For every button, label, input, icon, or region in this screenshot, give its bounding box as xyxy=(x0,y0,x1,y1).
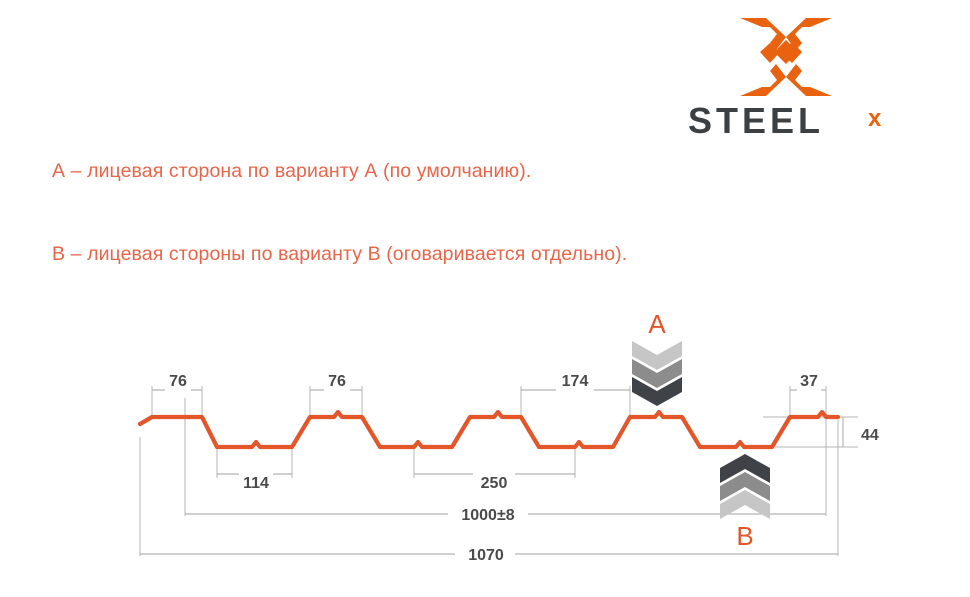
dimension-label-overall-width: 1070 xyxy=(468,547,504,564)
dimension-label-37: 37 xyxy=(800,373,818,390)
profile-technical-drawing: 76 76 174 37 114 250 44 1000±8 1070 A B xyxy=(0,0,970,597)
side-a-label: A xyxy=(648,309,666,339)
dimension-label-250: 250 xyxy=(481,475,508,492)
dimension-label-44: 44 xyxy=(861,427,879,444)
dimension-labels: 76 76 174 37 114 250 44 1000±8 1070 xyxy=(169,373,879,564)
side-a-marker: A xyxy=(632,309,682,406)
dimension-label-174: 174 xyxy=(562,373,589,390)
profile-spec-sheet: STEEL x А – лицевая сторона по варианту … xyxy=(0,0,970,597)
dimension-label-114: 114 xyxy=(243,475,269,492)
dimension-label-76-left: 76 xyxy=(169,373,187,390)
dimension-label-76-mid: 76 xyxy=(328,373,346,390)
side-b-label: B xyxy=(736,521,753,551)
dimension-label-working-width: 1000±8 xyxy=(461,507,514,524)
sheet-profile-path xyxy=(140,412,838,447)
side-b-marker: B xyxy=(720,454,770,551)
